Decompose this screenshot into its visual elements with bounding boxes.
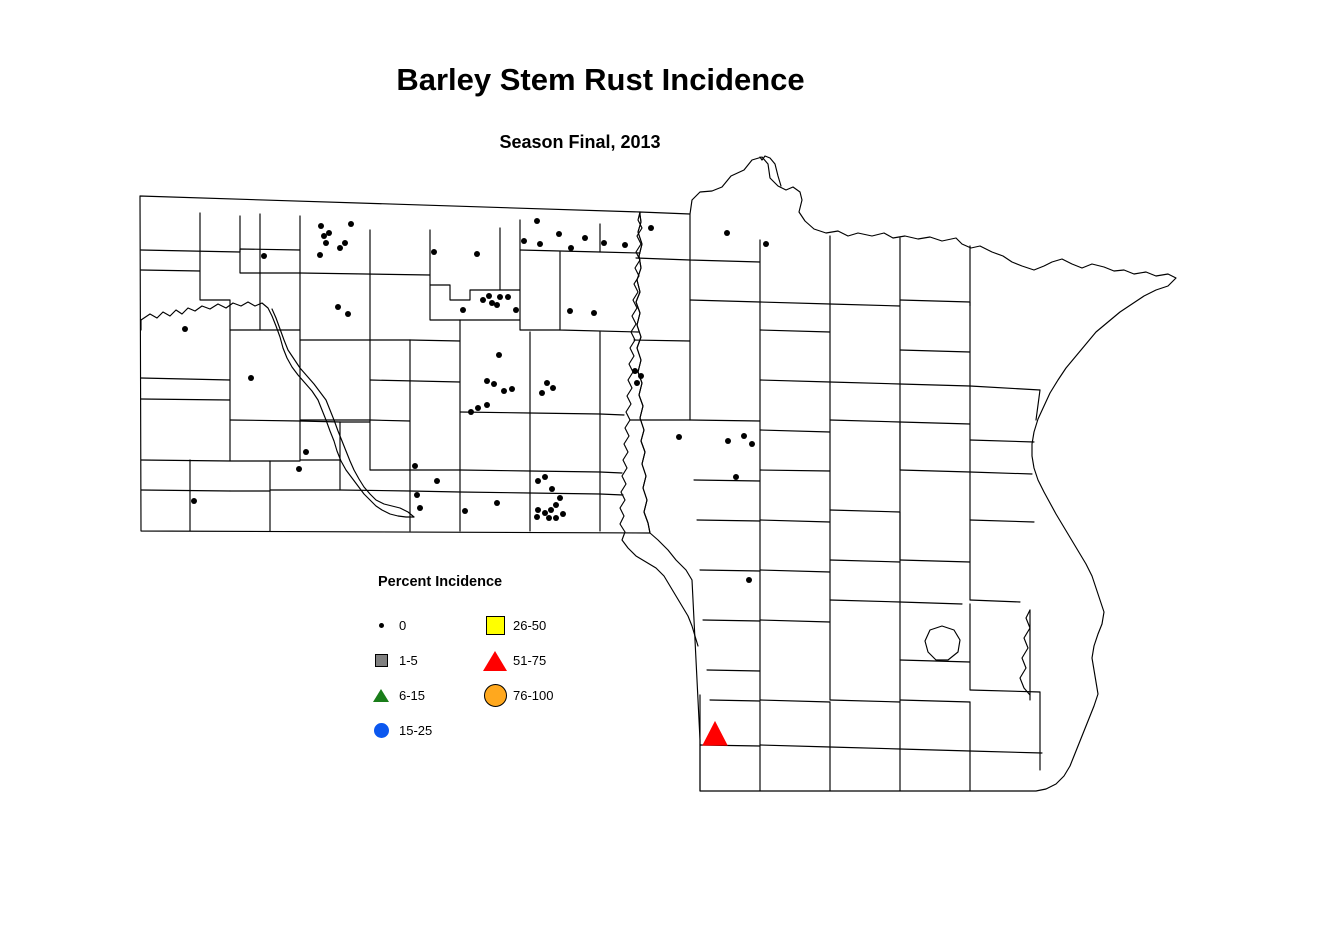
mn-county-line <box>760 700 830 702</box>
nd-county-line <box>460 470 530 471</box>
mn-county-line <box>634 340 690 341</box>
nd-county-line <box>230 491 270 531</box>
legend-symbol-triangle <box>368 689 394 702</box>
nd-county-line <box>141 330 230 380</box>
incidence-marker-zero <box>337 245 343 251</box>
incidence-marker-zero <box>474 251 480 257</box>
incidence-marker-zero <box>494 302 500 308</box>
incidence-marker-zero <box>317 252 323 258</box>
mn-county-line <box>830 600 900 602</box>
legend-entry-label: 76-100 <box>508 688 553 703</box>
incidence-marker-zero <box>460 307 466 313</box>
incidence-marker-zero <box>746 577 752 583</box>
legend-entry-label: 1-5 <box>394 653 418 668</box>
incidence-marker-zero <box>321 233 327 239</box>
nd-county-line <box>530 493 600 494</box>
incidence-marker-zero <box>335 304 341 310</box>
lake-sakakawea-shore <box>141 302 414 517</box>
incidence-marker-zero <box>475 405 481 411</box>
mn-county-line <box>830 382 900 384</box>
mn-county-line <box>697 520 760 521</box>
incidence-marker-zero <box>539 390 545 396</box>
northwest-angle <box>760 156 781 186</box>
nd-county-line <box>300 250 370 340</box>
nd-county-line <box>141 380 230 400</box>
legend-entry-label: 51-75 <box>508 653 546 668</box>
incidence-marker-zero <box>725 438 731 444</box>
incidence-marker-zero <box>546 515 552 521</box>
red-river-boundary <box>620 212 698 646</box>
legend-symbol-triangle-large <box>482 651 508 671</box>
incidence-marker-zero <box>417 505 423 511</box>
legend-entry-26-50: 26-50 <box>482 608 553 643</box>
eastern-mn-waterways <box>925 610 1030 695</box>
incidence-marker-zero <box>491 381 497 387</box>
nd-county-line <box>200 271 230 330</box>
nd-county-line <box>600 252 640 253</box>
legend-entry-1-5: 1-5 <box>368 643 432 678</box>
legend-entry-6-15: 6-15 <box>368 678 432 713</box>
mn-county-line <box>900 422 970 424</box>
nd-county-line <box>370 380 460 382</box>
incidence-marker-zero <box>568 245 574 251</box>
incidence-marker-zero <box>484 378 490 384</box>
incidence-marker-zero <box>486 293 492 299</box>
mn-county-line <box>760 430 830 432</box>
mn-county-line <box>830 747 900 749</box>
nd-county-line <box>600 494 623 495</box>
legend-symbol-small-dot <box>368 623 394 628</box>
mn-county-line <box>900 700 970 702</box>
incidence-marker-zero <box>462 508 468 514</box>
incidence-marker-zero <box>509 386 515 392</box>
st-croix-river <box>1020 610 1030 695</box>
incidence-marker-zero <box>345 311 351 317</box>
mn-county-line <box>970 440 1034 442</box>
nd-county-line <box>600 472 622 473</box>
nd-county-line <box>230 273 260 330</box>
incidence-marker-zero <box>556 231 562 237</box>
incidence-marker-zero <box>549 486 555 492</box>
legend-column-right: 26-5051-7576-100 <box>482 608 553 713</box>
incidence-marker-zero <box>741 433 747 439</box>
mn-county-line <box>760 570 830 572</box>
mn-county-line <box>636 258 690 260</box>
incidence-marker-zero <box>632 368 638 374</box>
incidence-marker-zero <box>497 294 503 300</box>
mn-county-line <box>830 560 900 562</box>
mn-county-line <box>970 520 1034 522</box>
incidence-marker-zero <box>534 218 540 224</box>
incidence-marker-zero <box>494 500 500 506</box>
incidence-marker-zero <box>326 230 332 236</box>
mn-county-line <box>703 620 760 621</box>
legend-symbol-square <box>368 654 394 667</box>
legend-swatch <box>484 684 507 707</box>
incidence-marker-zero <box>634 380 640 386</box>
mn-county-line <box>900 300 970 302</box>
mn-county-line <box>760 302 830 304</box>
incidence-marker-zero <box>553 502 559 508</box>
lake-of-the-woods <box>760 156 781 186</box>
mn-county-line <box>900 749 970 751</box>
incidence-marker-zero <box>521 238 527 244</box>
incidence-marker-zero <box>567 308 573 314</box>
nd-county-line <box>370 420 410 421</box>
nd-county-line <box>600 414 624 415</box>
incidence-marker-zero <box>553 515 559 521</box>
incidence-marker-zero <box>434 478 440 484</box>
incidence-marker-zero <box>724 230 730 236</box>
legend-title: Percent Incidence <box>378 574 502 590</box>
incidence-marker-zero <box>535 507 541 513</box>
mn-county-line <box>690 420 760 421</box>
incidence-marker-zero <box>296 466 302 472</box>
legend-entry-label: 6-15 <box>394 688 425 703</box>
incidence-marker-zero <box>676 434 682 440</box>
incidence-marker-51-75 <box>703 722 727 745</box>
mille-lacs-lake <box>925 626 960 660</box>
legend-symbol-square-large <box>482 616 508 635</box>
incidence-marker-zero <box>505 294 511 300</box>
incidence-marker-zero <box>496 352 502 358</box>
incidence-marker-zero <box>342 240 348 246</box>
legend-entry-label: 26-50 <box>508 618 546 633</box>
incidence-marker-zero <box>480 297 486 303</box>
mn-county-line <box>900 660 970 662</box>
incidence-marker-zero <box>535 478 541 484</box>
incidence-marker-zero <box>414 492 420 498</box>
mn-county-line <box>760 520 830 522</box>
incidence-marker-zero <box>542 510 548 516</box>
nd-county-line <box>230 461 270 491</box>
incidence-marker-zero <box>484 402 490 408</box>
nd-county-line <box>410 491 460 492</box>
mn-county-line <box>690 214 760 262</box>
nd-county-line <box>530 471 600 472</box>
legend-swatch <box>379 623 384 628</box>
incidence-marker-zero <box>303 449 309 455</box>
incidence-marker-zero <box>191 498 197 504</box>
minnesota-counties <box>630 214 1042 791</box>
incidence-marker-zero <box>560 511 566 517</box>
legend-swatch <box>375 654 388 667</box>
mn-county-line <box>970 472 1032 474</box>
incidence-marker-zero <box>749 441 755 447</box>
mn-county-line <box>830 304 900 306</box>
nd-county-line <box>530 413 600 414</box>
legend-entry-0: 0 <box>368 608 432 643</box>
nd-county-line <box>230 420 300 421</box>
legend-symbol-circle <box>368 723 394 738</box>
incidence-marker-zero <box>548 507 554 513</box>
legend-symbol-circle-large <box>482 684 508 707</box>
incidence-marker-zero <box>468 409 474 415</box>
incidence-marker-zero <box>544 380 550 386</box>
legend-entry-76-100: 76-100 <box>482 678 553 713</box>
incidence-marker-zero <box>261 253 267 259</box>
mn-county-line <box>830 420 900 422</box>
mn-county-line <box>694 480 760 481</box>
nd-county-line <box>340 490 410 491</box>
legend-entry-51-75: 51-75 <box>482 643 553 678</box>
incidence-marker-zero <box>591 310 597 316</box>
legend-swatch <box>373 689 389 702</box>
incidence-marker-zero <box>537 241 543 247</box>
incidence-marker-zero <box>323 240 329 246</box>
legend-swatch <box>486 616 505 635</box>
incidence-marker-zero <box>622 242 628 248</box>
red-river-line <box>620 212 698 646</box>
mn-county-line <box>970 386 1040 390</box>
incidence-marker-zero <box>733 474 739 480</box>
mn-county-line <box>760 380 830 382</box>
map-page: Barley Stem Rust Incidence Season Final,… <box>0 0 1341 926</box>
incidence-marker-zero <box>412 463 418 469</box>
legend-entry-label: 0 <box>394 618 406 633</box>
mn-county-line <box>760 470 830 471</box>
mn-county-line <box>900 384 970 386</box>
incidence-marker-zero <box>601 240 607 246</box>
incidence-marker-zero <box>182 326 188 332</box>
mn-county-line <box>900 560 970 562</box>
legend-entry-15-25: 15-25 <box>368 713 432 748</box>
mn-county-line <box>707 670 760 671</box>
missouri-river <box>141 302 414 517</box>
nd-county-line <box>430 228 500 300</box>
minnesota-outline <box>636 157 1176 791</box>
nd-county-line <box>141 400 230 461</box>
incidence-marker-zero <box>550 385 556 391</box>
mn-county-line <box>710 700 760 701</box>
legend-entry-label: 15-25 <box>394 723 432 738</box>
nd-county-line <box>500 220 520 290</box>
legend-column-left: 01-56-1515-25 <box>368 608 432 748</box>
incidence-marker-zero <box>542 474 548 480</box>
incidence-marker-zero <box>431 249 437 255</box>
mn-county-line <box>760 330 830 332</box>
incidence-marker-zero <box>582 235 588 241</box>
nd-county-line <box>240 252 300 273</box>
incidence-marker-zero <box>763 241 769 247</box>
incidence-marker-zero <box>648 225 654 231</box>
nd-county-line <box>560 252 639 332</box>
incidence-marker-zero <box>513 307 519 313</box>
mn-county-line <box>830 700 900 702</box>
incidence-marker-zero <box>348 221 354 227</box>
incidence-marker-zero <box>318 223 324 229</box>
legend-swatch <box>374 723 389 738</box>
incidence-marker-zero <box>534 514 540 520</box>
north-dakota-counties <box>141 213 640 531</box>
nd-county-line <box>141 249 300 252</box>
mn-county-line <box>690 300 760 302</box>
incidence-marker-zero <box>638 373 644 379</box>
nd-county-line <box>141 251 200 271</box>
legend-swatch <box>483 651 507 671</box>
map-svg <box>0 0 1341 926</box>
nd-county-line <box>270 460 340 490</box>
nd-county-line <box>141 490 230 491</box>
mn-county-line <box>830 510 900 512</box>
incidence-marker-zero <box>248 375 254 381</box>
mn-county-line <box>700 570 760 571</box>
incidence-marker-zero <box>501 388 507 394</box>
mn-county-line <box>900 602 962 604</box>
nd-county-line <box>410 340 460 382</box>
mn-county-line <box>760 745 830 747</box>
mn-county-line <box>970 751 1042 753</box>
map-canvas <box>0 0 1341 926</box>
mn-county-line <box>900 350 970 352</box>
mn-county-line <box>970 600 1020 602</box>
incidence-high-markers <box>703 722 727 745</box>
nd-county-line <box>460 492 530 493</box>
mn-county-line <box>900 470 970 472</box>
incidence-marker-zero <box>557 495 563 501</box>
mn-county-line <box>760 620 830 622</box>
